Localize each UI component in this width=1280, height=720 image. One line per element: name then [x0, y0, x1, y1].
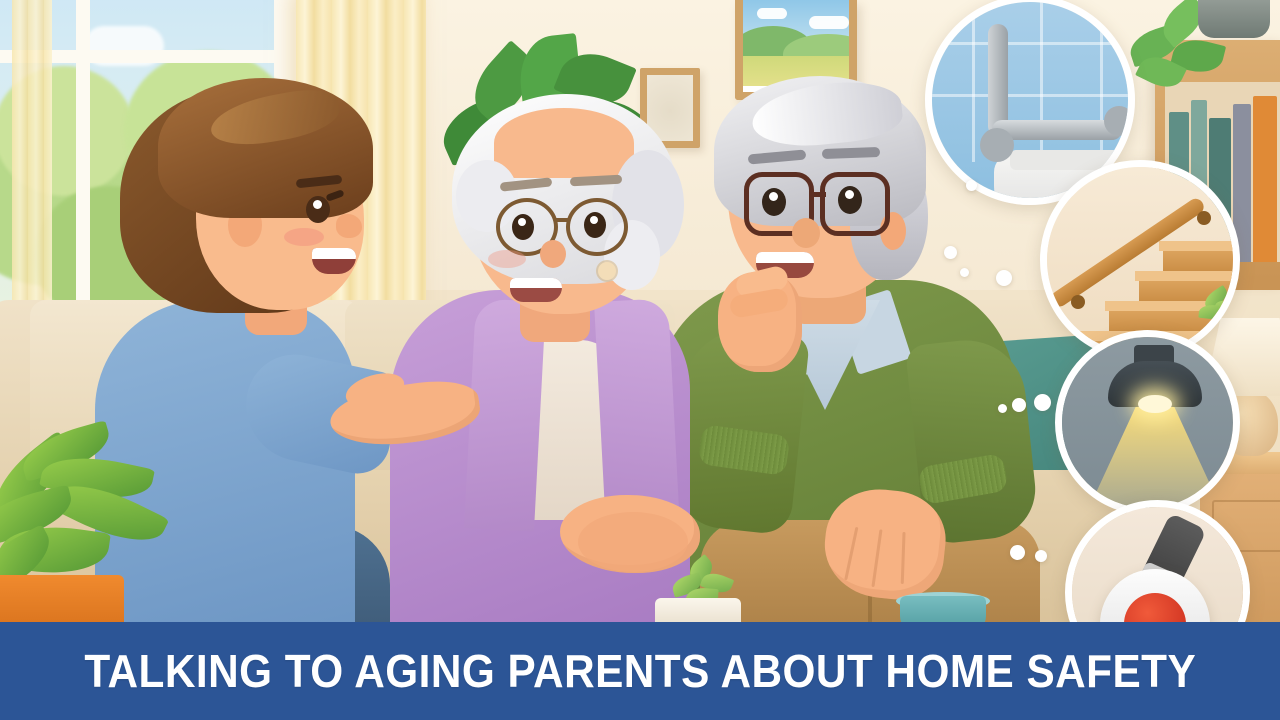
- title-banner: TALKING TO AGING PARENTS ABOUT HOME SAFE…: [0, 622, 1280, 720]
- thought-dot: [998, 404, 1007, 413]
- tile-grout-line: [932, 94, 1135, 97]
- thought-dot: [966, 180, 977, 191]
- father-glasses-bridge: [812, 192, 826, 197]
- finger-line: [871, 529, 882, 587]
- cloud-icon: [809, 16, 849, 29]
- grab-bar-flange: [980, 128, 1014, 162]
- stair-tread: [1135, 271, 1240, 281]
- banner-title-text: TALKING TO AGING PARENTS ABOUT HOME SAFE…: [84, 648, 1196, 694]
- finger-line: [844, 527, 858, 580]
- cloud-icon: [757, 8, 787, 19]
- daughter-eye-highlight: [313, 200, 322, 209]
- daughter-teeth: [312, 248, 356, 259]
- father-nose: [792, 218, 820, 248]
- illustration-canvas: TALKING TO AGING PARENTS ABOUT HOME SAFE…: [0, 0, 1280, 720]
- daughter-nose: [336, 214, 362, 238]
- daughter-blush: [284, 228, 324, 246]
- thought-dot: [1034, 394, 1051, 411]
- curtain-left: [12, 0, 52, 350]
- daughter-mouth: [312, 248, 356, 274]
- mother-teeth: [510, 278, 562, 288]
- tile-grout-line: [932, 42, 1135, 45]
- thought-dot: [944, 246, 957, 259]
- stair-tread: [1159, 241, 1240, 251]
- mother-glasses-lens: [566, 198, 628, 256]
- mother-blush: [488, 250, 526, 268]
- father-glasses-lens: [820, 172, 890, 236]
- thought-dot: [960, 268, 969, 277]
- finger-line: [901, 532, 906, 584]
- handrail-bracket: [1071, 295, 1085, 309]
- father-eyebrow: [822, 147, 880, 159]
- tile-grout-line: [972, 2, 975, 162]
- grab-bar-flange: [1104, 106, 1134, 136]
- foreground-plant: [0, 430, 170, 595]
- hanging-plant-pot: [1198, 0, 1270, 38]
- thought-dot: [1012, 398, 1026, 412]
- thought-dot: [996, 270, 1012, 286]
- mother-mouth: [510, 278, 562, 302]
- father-teeth: [756, 252, 814, 263]
- thought-dot: [1010, 545, 1025, 560]
- thought-dot: [1035, 550, 1047, 562]
- mother-nose: [540, 240, 566, 268]
- mother-forehead: [494, 108, 634, 178]
- book-icon: [1253, 96, 1277, 262]
- leaf-icon: [1198, 304, 1225, 321]
- light-bulb-icon: [1138, 395, 1172, 413]
- handrail-bracket: [1197, 211, 1211, 225]
- thought-bubble-bright-lighting: [1055, 330, 1240, 515]
- mother-pearl-earring: [598, 262, 616, 280]
- mother-glasses-bridge: [556, 218, 570, 222]
